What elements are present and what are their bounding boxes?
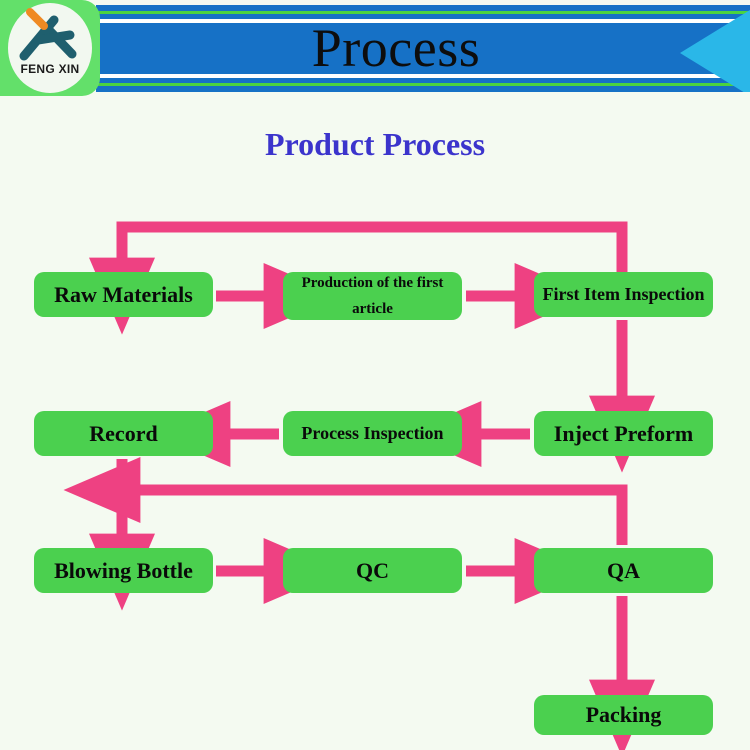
node-first-item-inspection[interactable]: First Item Inspection (534, 272, 713, 317)
node-qa[interactable]: QA (534, 548, 713, 593)
node-label: Blowing Bottle (54, 558, 193, 584)
node-label: QC (356, 558, 389, 584)
node-packing[interactable]: Packing (534, 695, 713, 735)
edge-qa-back-to-blowing (136, 490, 622, 545)
node-raw-materials[interactable]: Raw Materials (34, 272, 213, 317)
node-qc[interactable]: QC (283, 548, 462, 593)
node-production-of-the-first-article[interactable]: Production of the first article (283, 272, 462, 320)
node-blowing-bottle[interactable]: Blowing Bottle (34, 548, 213, 593)
node-inject-preform[interactable]: Inject Preform (534, 411, 713, 456)
node-label: Process Inspection (301, 423, 443, 444)
process-flowchart: Raw Materials Production of the first ar… (0, 0, 750, 750)
node-record[interactable]: Record (34, 411, 213, 456)
node-label: First Item Inspection (543, 284, 705, 305)
flow-edges-layer (0, 0, 750, 750)
node-label: Inject Preform (554, 421, 693, 447)
node-label: QA (607, 558, 640, 584)
node-label: Record (89, 421, 157, 447)
node-label: Production of the first article (293, 270, 452, 322)
node-label: Packing (586, 702, 662, 728)
edge-first-item-back-to-raw (122, 227, 622, 272)
node-label: Raw Materials (54, 282, 193, 308)
node-process-inspection[interactable]: Process Inspection (283, 411, 462, 456)
